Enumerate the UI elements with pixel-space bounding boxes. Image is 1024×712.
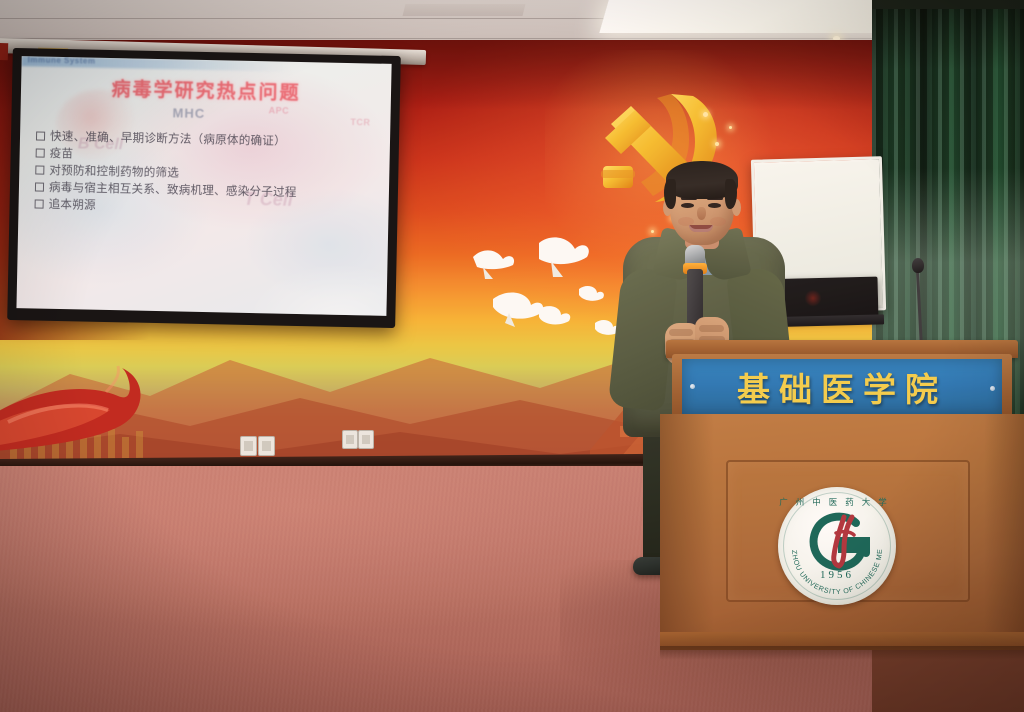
podium-sign: 基础医学院 xyxy=(682,359,1002,415)
podium-sign-text: 基础医学院 xyxy=(737,363,947,411)
wall-outlet[interactable] xyxy=(240,436,257,456)
bullet-text: 对预防和控制药物的筛选 xyxy=(49,163,179,180)
bullet-text: 疫苗 xyxy=(50,146,74,160)
slide-bullet-item: 追本朔源 xyxy=(34,196,379,217)
roller-end-cap xyxy=(0,43,8,60)
slide-top-banner-text: Immune System xyxy=(28,56,96,66)
checkbox-icon xyxy=(35,182,44,191)
ceiling-vent xyxy=(403,4,526,16)
slide-surface: Immune System 病毒学研究热点问题 MHC APC TCR B Ce… xyxy=(16,56,391,316)
nose xyxy=(697,207,706,220)
sign-screw xyxy=(690,384,695,389)
ceiling-panel-light xyxy=(599,0,908,33)
slide-bullet-list: 快速、准确、早期诊断方法（病原体的确证） 疫苗 对预防和控制药物的筛选 病毒与宿… xyxy=(34,128,381,220)
university-name-en: GUANGZHOU UNIVERSITY OF CHINESE MEDICINE xyxy=(778,487,884,596)
checkbox-icon xyxy=(36,131,45,140)
checkbox-icon xyxy=(36,148,45,157)
curtain-rail xyxy=(872,0,1024,9)
eye-left xyxy=(681,203,694,208)
hair-side-left xyxy=(664,179,676,209)
mouth xyxy=(689,225,713,232)
wall-outlet[interactable] xyxy=(342,430,358,449)
university-emblem: 广州中医药大学 1956 GUANGZHOU UNIVERSITY OF CHI… xyxy=(778,487,896,605)
curtain-top-shading xyxy=(872,0,1024,70)
checkbox-icon xyxy=(35,199,44,208)
bullet-text: 追本朔源 xyxy=(48,197,95,212)
checkbox-icon xyxy=(35,165,44,174)
projection-screen: Immune System 病毒学研究热点问题 MHC APC TCR B Ce… xyxy=(7,48,401,328)
eye-right xyxy=(708,203,721,208)
projector-hotspot xyxy=(245,261,392,316)
sign-screw xyxy=(990,386,995,391)
gooseneck-mic-head[interactable] xyxy=(912,258,924,273)
lecture-hall-photo: Immune System 病毒学研究热点问题 MHC APC TCR B Ce… xyxy=(0,0,1024,712)
red-silk-flag xyxy=(0,352,220,464)
wall-outlet[interactable] xyxy=(358,430,374,449)
bullet-text: 病毒与宿主相互关系、致病机理、感染分子过程 xyxy=(49,180,297,199)
wall-outlet[interactable] xyxy=(258,436,275,456)
svg-text:GUANGZHOU UNIVERSITY OF CHINES: GUANGZHOU UNIVERSITY OF CHINESE MEDICINE xyxy=(778,487,884,596)
